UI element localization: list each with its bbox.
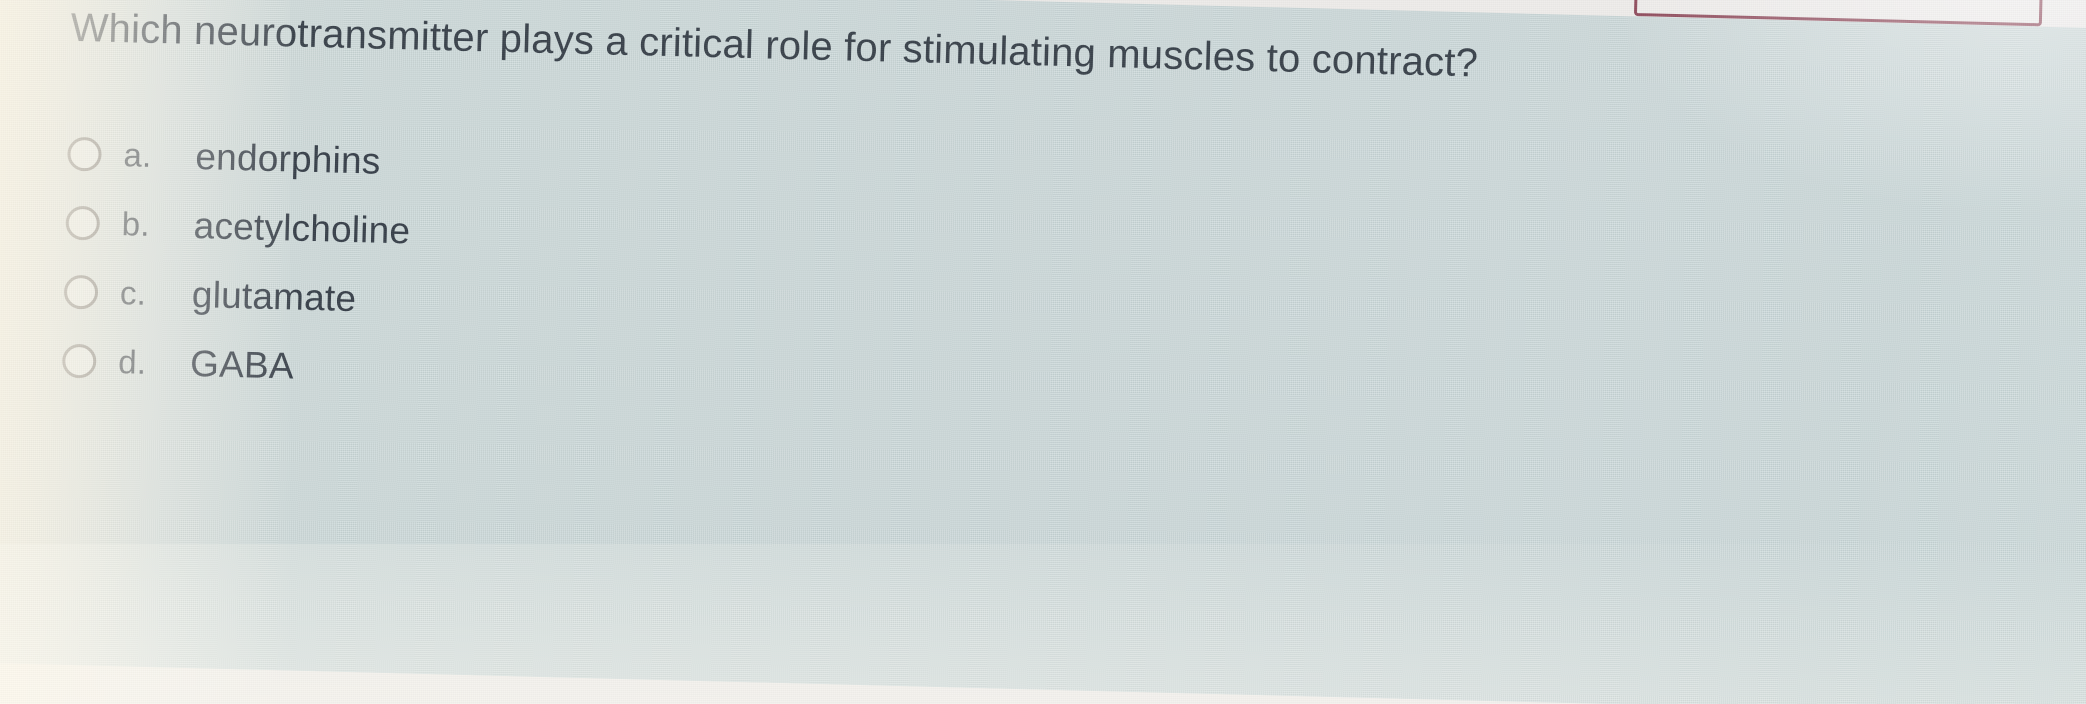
answer-options-list: a. endorphins b. acetylcholine c. glutam… (61, 119, 1667, 435)
question-text: Which neurotransmitter plays a critical … (70, 3, 1479, 89)
option-letter-c: c. (120, 274, 193, 314)
option-label-a: endorphins (195, 135, 381, 182)
option-letter-d: d. (118, 343, 191, 383)
radio-button-d[interactable] (62, 343, 97, 378)
radio-button-a[interactable] (67, 136, 102, 171)
option-letter-a: a. (123, 136, 196, 176)
option-label-d: GABA (190, 342, 295, 387)
radio-button-b[interactable] (65, 205, 100, 240)
photo-of-screen: Which neurotransmitter plays a critical … (0, 0, 2086, 704)
option-letter-b: b. (121, 205, 194, 245)
option-label-c: glutamate (191, 273, 356, 319)
radio-button-c[interactable] (64, 274, 99, 309)
quiz-content: Which neurotransmitter plays a critical … (0, 0, 2086, 704)
option-label-b: acetylcholine (193, 204, 411, 251)
